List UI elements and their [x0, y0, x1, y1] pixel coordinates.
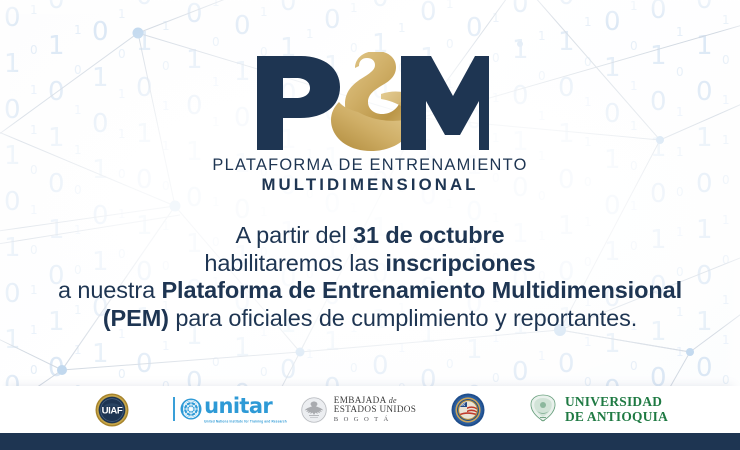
udea-crest-icon: [528, 394, 558, 426]
partner-logo-unitar: unitar United Nations Institute for Trai…: [166, 396, 294, 422]
headline-l2-bold: inscripciones: [385, 250, 535, 276]
headline-line-4: (PEM) para oficiales de cumplimiento y r…: [0, 305, 740, 333]
embajada-line2: ESTADOS UNIDOS: [334, 405, 417, 415]
headline-line-2: habilitaremos las inscripciones: [0, 250, 740, 278]
partner-logo-universidad-de-antioquia: UNIVERSIDAD DE ANTIOQUIA: [514, 394, 682, 426]
poster-canvas: 0 1 0 1 0 1 0 1 0 1 0 1 0 1 1 0 1 0 1: [0, 0, 740, 450]
partner-logo-band: UIAF unitar: [0, 386, 740, 433]
svg-text:UIAF: UIAF: [102, 405, 123, 416]
us-eagle-seal-icon: [300, 396, 328, 424]
unitar-subtitle: United Nations Institute for Training an…: [204, 420, 287, 424]
embajada-wordmark: EMBAJADA de ESTADOS UNIDOS B O G O T Á: [334, 396, 417, 424]
partner-logo-us-flag-seal: [422, 393, 514, 427]
logo-tagline-line2: MULTIDIMENSIONAL: [0, 176, 740, 194]
bottom-accent-bar: [0, 433, 740, 450]
logo-letter-p: [257, 56, 340, 150]
headline-l3-text: a nuestra: [58, 277, 162, 303]
uiaf-seal-icon: UIAF: [95, 393, 129, 427]
headline-l1-text: A partir del: [235, 222, 353, 248]
partner-logo-embajada-estados-unidos: EMBAJADA de ESTADOS UNIDOS B O G O T Á: [294, 396, 422, 424]
unitar-wordmark: unitar: [204, 396, 287, 417]
headline-l4-text: para oficiales de cumplimiento y reporta…: [169, 305, 637, 331]
headline-l1-bold: 31 de octubre: [353, 222, 505, 248]
un-emblem-icon: [180, 398, 202, 420]
headline-l2-text: habilitaremos las: [204, 250, 385, 276]
udea-line2: DE ANTIOQUIA: [565, 410, 668, 425]
headline-l3-bold: Plataforma de Entrenamiento Multidimensi…: [161, 277, 682, 303]
pem-wordmark-logo: [251, 52, 489, 154]
embajada-line3: B O G O T Á: [334, 416, 417, 423]
partner-logo-uiaf: UIAF: [58, 393, 166, 427]
us-flag-circular-seal-icon: [451, 393, 485, 427]
unitar-divider-rule: [173, 397, 175, 421]
udea-wordmark: UNIVERSIDAD DE ANTIOQUIA: [565, 395, 668, 424]
embajada-line1-b: de: [389, 396, 397, 405]
udea-line1: UNIVERSIDAD: [565, 395, 668, 410]
logo-letter-m: [401, 56, 489, 150]
pem-logo-block: PLATAFORMA DE ENTRENAMIENTO MULTIDIMENSI…: [0, 52, 740, 195]
headline-line-3: a nuestra Plataforma de Entrenamiento Mu…: [0, 277, 740, 305]
headline-l4-bold: (PEM): [103, 305, 169, 331]
headline-line-1: A partir del 31 de octubre: [0, 222, 740, 250]
headline-message: A partir del 31 de octubre habilitaremos…: [0, 222, 740, 332]
embajada-line1-a: EMBAJADA: [334, 395, 389, 405]
logo-tagline-line1: PLATAFORMA DE ENTRENAMIENTO: [0, 157, 740, 174]
